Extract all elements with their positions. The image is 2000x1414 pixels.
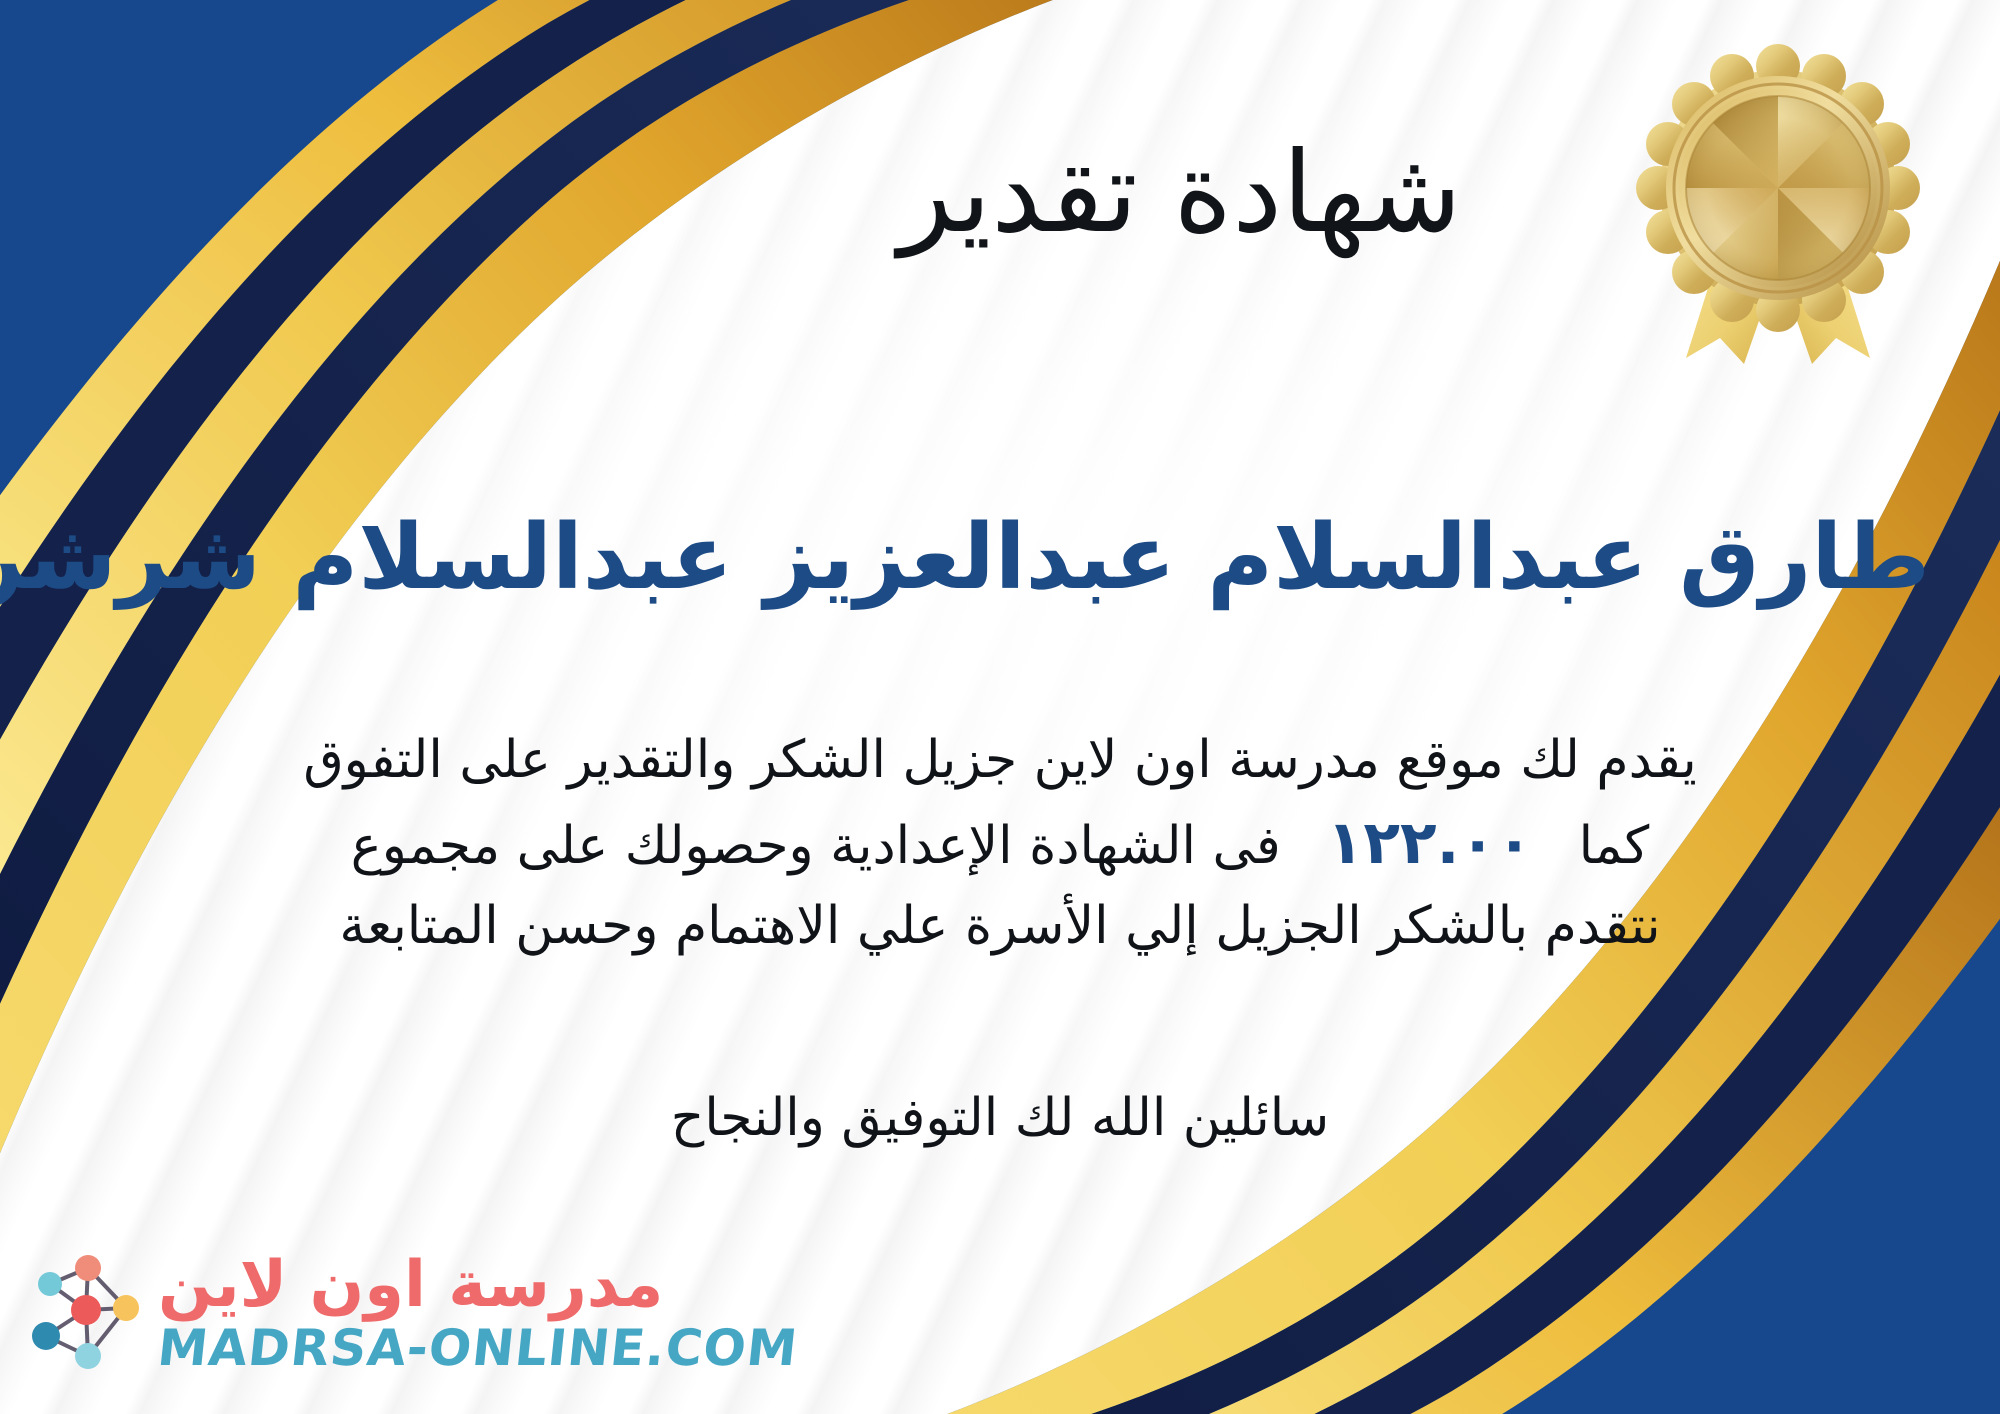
brand-arabic-name: مدرسة اون لاين — [158, 1253, 663, 1317]
brand-text: مدرسة اون لاين MADRSA-ONLINE.COM — [158, 1253, 798, 1373]
page-title: شهادة تقدير — [250, 132, 1750, 255]
body-line-2-head: فى الشهادة الإعدادية وحصولك على مجموع — [351, 808, 1281, 885]
body-line-1: يقدم لك موقع مدرسة اون لاين جزيل الشكر و… — [90, 722, 1910, 799]
brand-website: MADRSA-ONLINE.COM — [155, 1323, 800, 1373]
body-line-2-tail: كما — [1579, 808, 1650, 885]
closing-wish-line: سائلين الله لك التوفيق والنجاح — [150, 1088, 1850, 1148]
network-nodes-icon — [26, 1252, 144, 1374]
certificate-body: يقدم لك موقع مدرسة اون لاين جزيل الشكر و… — [90, 722, 1910, 965]
certificate-content: شهادة تقدير طارق عبدالسلام عبدالعزيز عبد… — [0, 0, 2000, 1414]
brand-logo: مدرسة اون لاين MADRSA-ONLINE.COM — [26, 1238, 566, 1388]
body-line-3: نتقدم بالشكر الجزيل إلي الأسرة علي الاهت… — [90, 888, 1910, 965]
total-score-value: ١٢٢.٠٠ — [1327, 799, 1533, 888]
body-line-2: كما ١٢٢.٠٠ فى الشهادة الإعدادية وحصولك ع… — [90, 799, 1910, 888]
certificate-page: شهادة تقدير طارق عبدالسلام عبدالعزيز عبد… — [0, 0, 2000, 1414]
recipient-name: طارق عبدالسلام عبدالعزيز عبدالسلام شرشر — [70, 506, 1930, 610]
